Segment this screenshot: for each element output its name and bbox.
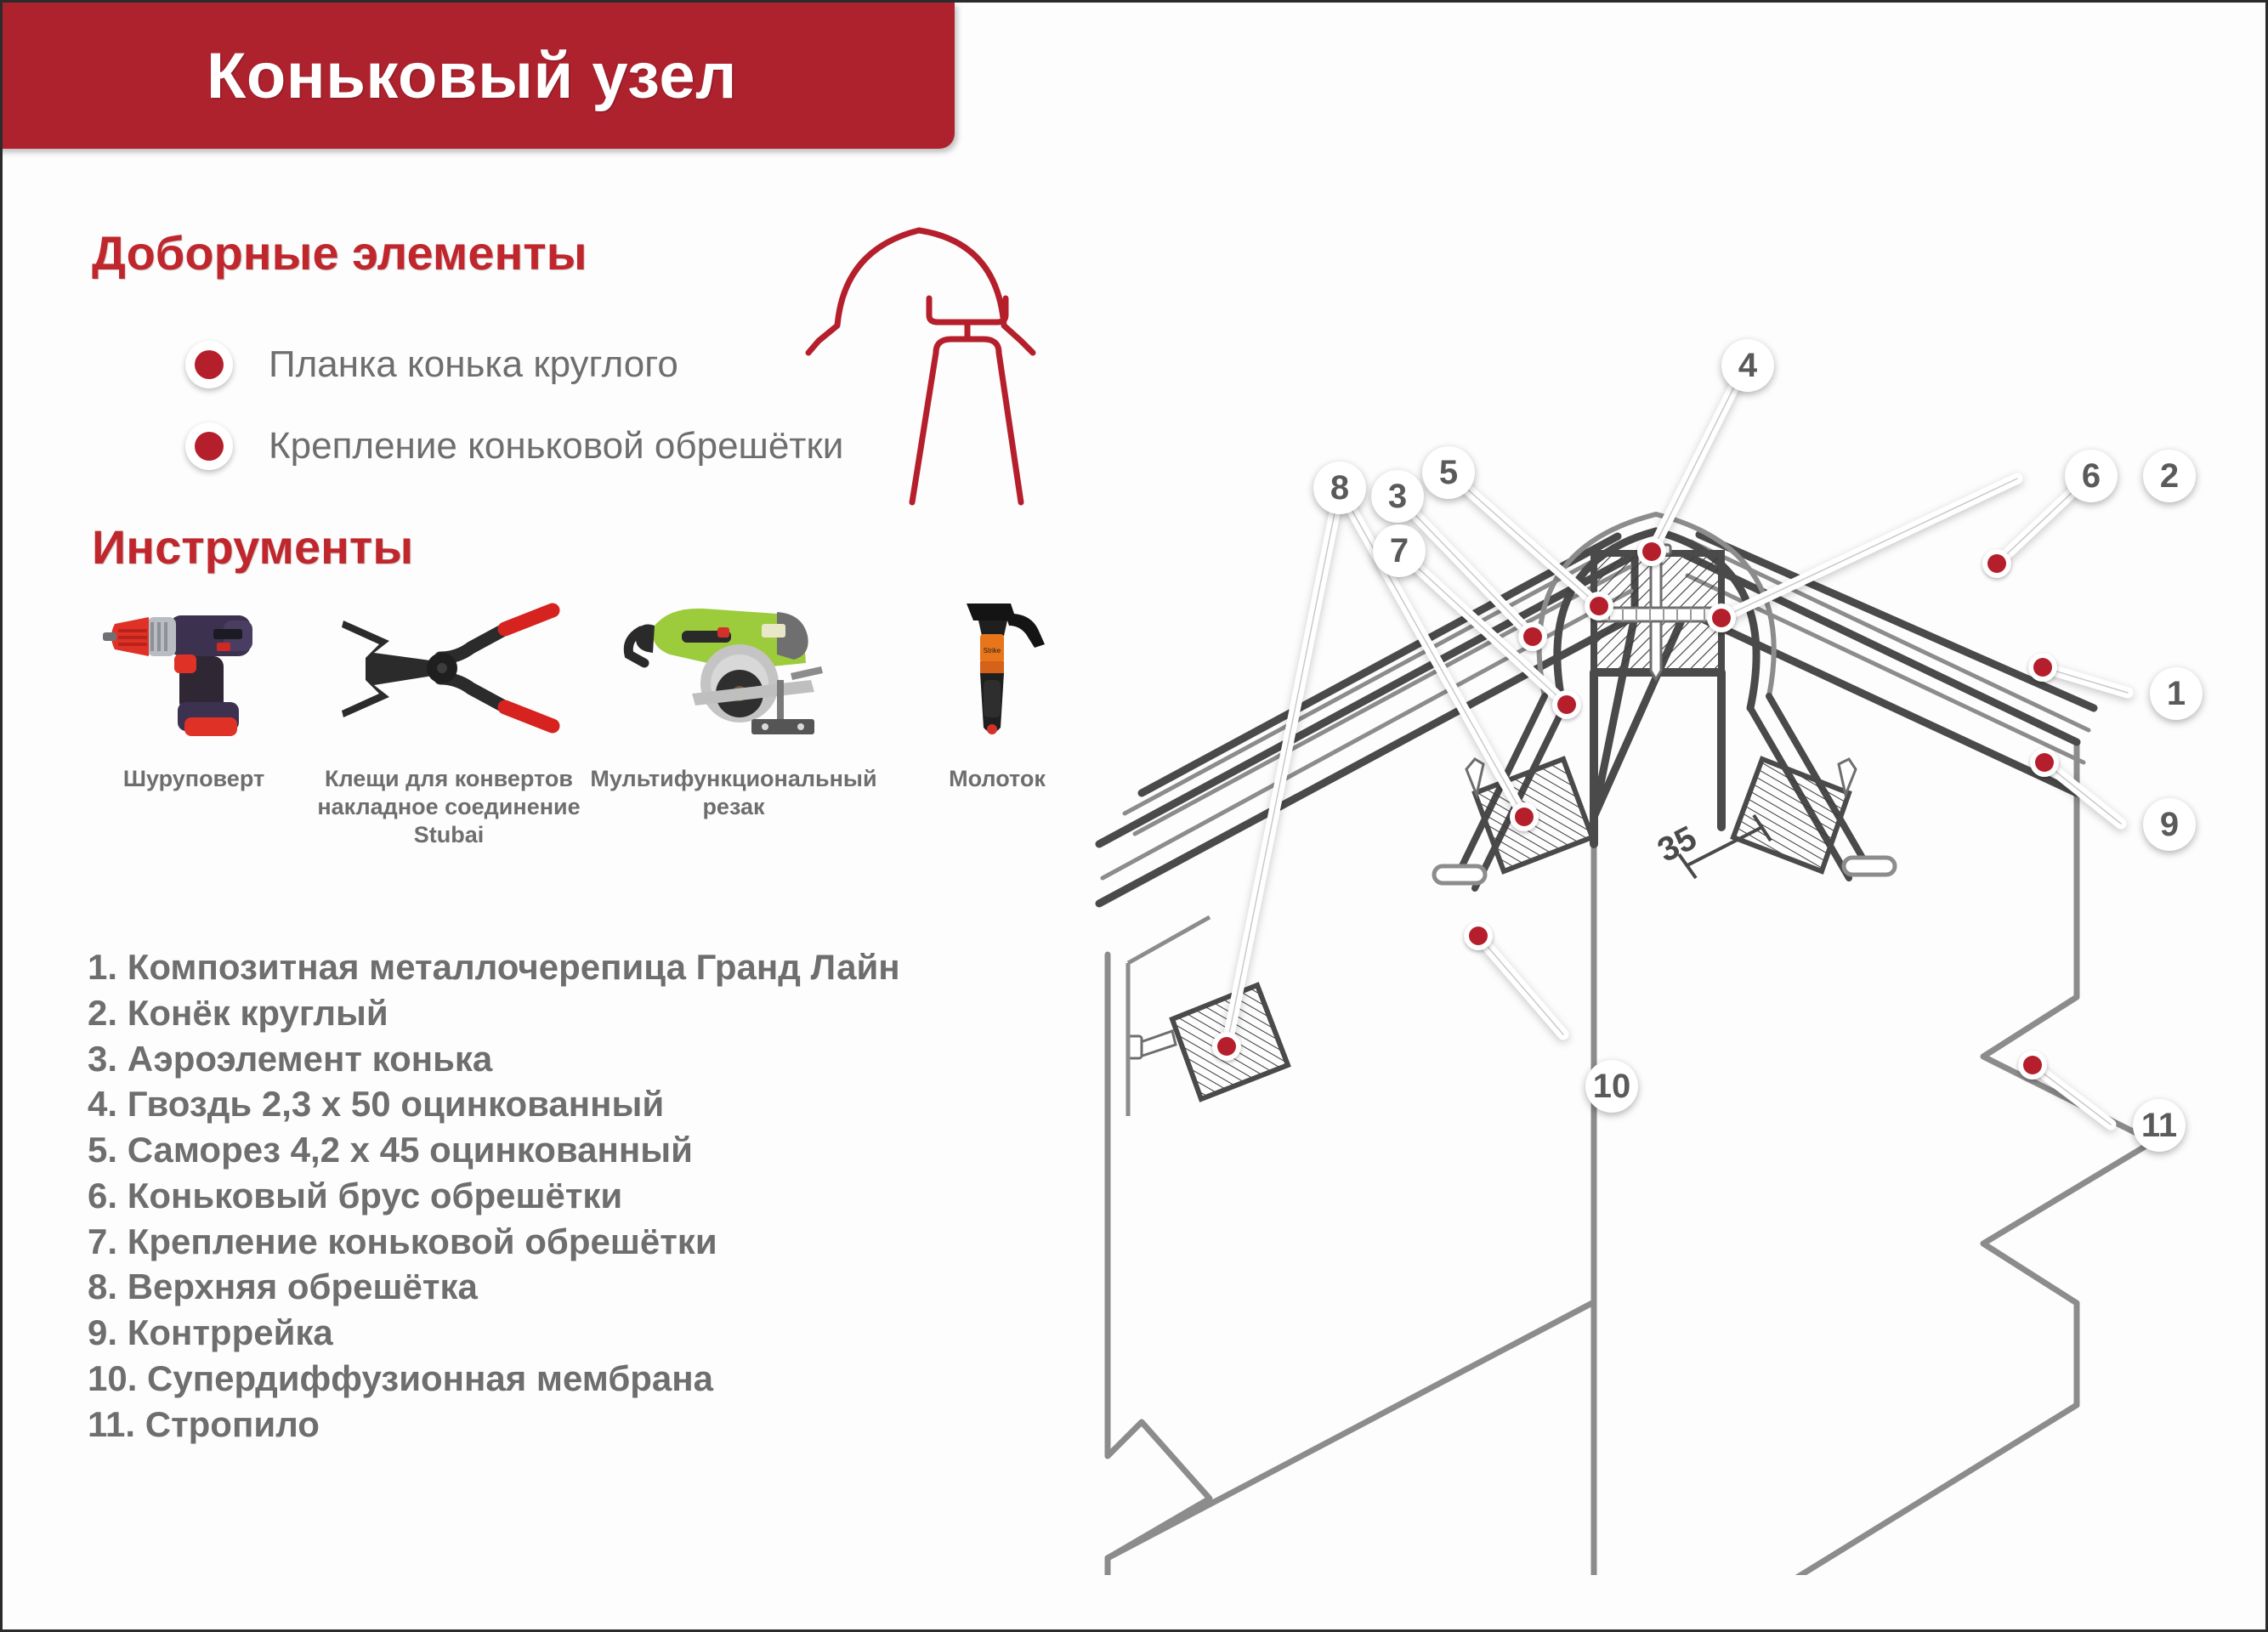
tools-heading: Инструменты [92, 519, 413, 575]
svg-text:Strike: Strike [984, 647, 1001, 654]
legend-item: 5. Саморез 4,2 х 45 оцинкованный [88, 1127, 1108, 1173]
legend-item: 2. Конёк круглый [88, 990, 1108, 1036]
anchor-dot-1 [2028, 653, 2057, 682]
callout-5[interactable]: 5 [1422, 446, 1475, 499]
tool-caption: Клещи для конвертов накладное соединение… [317, 765, 581, 849]
legend-item: 9. Контррейка [88, 1310, 1108, 1356]
tool-item-drill: Шуруповерт [71, 589, 317, 793]
callout-9[interactable]: 9 [2143, 798, 2196, 851]
diagram-page: Коньковый узел Доборные элементы Планка … [0, 0, 2268, 1632]
tool-caption: Молоток [949, 765, 1046, 793]
legend-item: 1. Композитная металлочерепица Гранд Лай… [88, 944, 1108, 990]
anchor-dot-8-upper [1510, 802, 1539, 831]
anchor-dot-6 [1707, 603, 1736, 632]
legend-item: 6. Коньковый брус обрешётки [88, 1173, 1108, 1219]
anchor-dot-11 [2018, 1051, 2047, 1079]
callout-7[interactable]: 7 [1373, 524, 1426, 577]
components-heading: Доборные элементы [92, 225, 587, 280]
anchor-dot-9 [2030, 748, 2059, 777]
callout-11[interactable]: 11 [2133, 1099, 2186, 1152]
tool-caption: Шуруповерт [123, 765, 264, 793]
callout-4[interactable]: 4 [1721, 339, 1774, 392]
pliers-icon [330, 589, 568, 746]
component-label: Крепление коньковой обрешётки [269, 425, 843, 467]
callout-6[interactable]: 6 [2065, 450, 2118, 502]
bullet-dot-icon [185, 341, 233, 388]
anchor-dot-3 [1518, 622, 1547, 651]
anchor-dot-5 [1585, 592, 1613, 620]
page-title: Коньковый узел [207, 39, 737, 113]
component-label: Планка конька круглого [269, 343, 678, 386]
callout-1[interactable]: 1 [2150, 667, 2203, 720]
tool-item-circular-saw: Мультифункциональный резак [581, 589, 887, 821]
callout-3[interactable]: 3 [1371, 470, 1424, 523]
tool-item-pliers: Клещи для конвертов накладное соединение… [317, 589, 581, 849]
tools-strip: Шуруповерт Клещи для конвертов накладное… [71, 589, 1176, 849]
tool-caption: Мультифункциональный резак [581, 765, 887, 821]
legend-item: 3. Аэроэлемент конька [88, 1036, 1108, 1082]
hammer-icon: Strike [929, 589, 1065, 746]
tool-item-hammer: Strike Молоток [887, 589, 1108, 793]
callout-2[interactable]: 2 [2143, 450, 2196, 502]
ridge-assembly-svg: 35 [1091, 198, 2268, 1575]
legend-item: 11. Стропило [88, 1402, 1108, 1448]
title-banner: Коньковый узел [0, 3, 955, 149]
bullet-dot-icon [185, 422, 233, 470]
anchor-dot-4 [1637, 537, 1666, 566]
anchor-dot-7 [1552, 690, 1581, 719]
ridge-support-column [1594, 672, 1721, 844]
top-batten-lower-left [1128, 917, 1288, 1116]
anchor-dot-10 [1464, 921, 1493, 950]
anchor-dot-2 [1982, 549, 2011, 578]
legend-item: 7. Крепление коньковой обрешётки [88, 1219, 1108, 1265]
drill-icon [96, 589, 292, 746]
legend-item: 4. Гвоздь 2,3 х 50 оцинкованный [88, 1081, 1108, 1127]
callout-10[interactable]: 10 [1585, 1060, 1638, 1113]
callout-8[interactable]: 8 [1313, 462, 1366, 514]
ridge-assembly-drawing: 35 [1091, 198, 2268, 1575]
legend-list: 1. Композитная металлочерепица Гранд Лай… [88, 944, 1108, 1447]
legend-item: 10. Супердиффузионная мембрана [88, 1356, 1108, 1402]
round-ridge-cap-profile [808, 230, 1033, 353]
circular-saw-icon [610, 589, 857, 746]
legend-item: 8. Верхняя обрешётка [88, 1264, 1108, 1310]
anchor-dot-8-lower [1212, 1032, 1241, 1061]
